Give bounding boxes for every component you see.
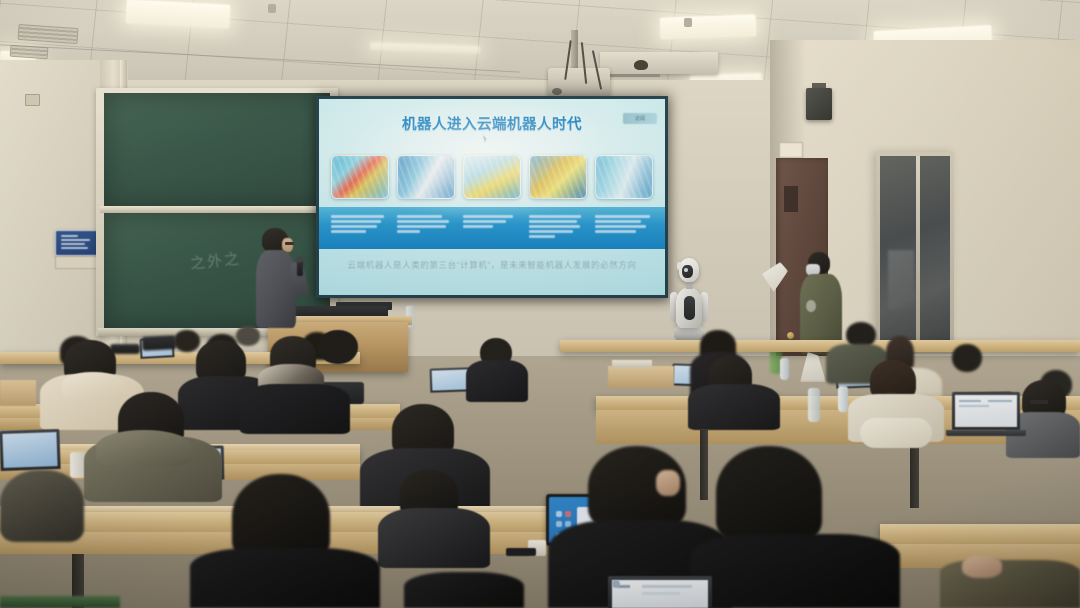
presentation-slide: 机器人进入云端机器人时代 达闼 xyxy=(319,99,665,295)
robot-ear xyxy=(677,262,682,270)
hand xyxy=(962,556,1002,578)
audience-head-foreground xyxy=(716,446,822,542)
slide-caption: 云端机器人是人类的第三台“计算机”，是未来智能机器人发展的必然方向 xyxy=(319,259,665,271)
water-bottle xyxy=(838,386,848,412)
audience-body-foreground xyxy=(404,572,524,608)
app-icon xyxy=(612,580,620,588)
robot-eye-icon xyxy=(684,268,688,272)
slide-image-cards xyxy=(331,155,653,199)
audience-body-foreground xyxy=(690,534,900,608)
seat-back xyxy=(142,335,177,351)
presenter-glasses-icon xyxy=(285,242,294,245)
robot-base xyxy=(674,326,704,340)
slide-caption-column xyxy=(529,211,587,247)
right-wall-notice xyxy=(779,142,803,158)
desk-leg xyxy=(700,430,708,500)
desk-side-shelf xyxy=(0,380,36,406)
door-window xyxy=(784,186,798,212)
window-glare xyxy=(888,250,914,310)
door-knob-icon[interactable] xyxy=(787,332,794,339)
chair-back xyxy=(0,596,120,608)
laptop[interactable] xyxy=(430,367,471,392)
dome-camera-icon xyxy=(634,60,648,70)
robot-face-panel xyxy=(682,265,693,278)
paper-stack xyxy=(612,360,652,368)
sprinkler-head xyxy=(268,4,276,13)
laptop[interactable] xyxy=(608,576,712,608)
microphone-head-icon xyxy=(296,256,303,263)
slide-title: 机器人进入云端机器人时代 xyxy=(319,113,665,134)
wall-speaker xyxy=(806,88,832,120)
audience-body xyxy=(240,384,350,434)
left-wall-sign-secondary xyxy=(55,256,101,269)
audience-body-leather xyxy=(688,384,780,430)
backpack xyxy=(860,418,932,448)
slide-caption-columns xyxy=(331,211,653,247)
sprinkler-head xyxy=(684,18,692,27)
water-bottle xyxy=(808,388,820,422)
audience-head xyxy=(318,330,358,364)
slide-card xyxy=(529,155,587,199)
desk-row-back xyxy=(560,340,1080,352)
audience-head xyxy=(236,326,260,346)
robot-chest-panel xyxy=(684,296,695,320)
audience-body xyxy=(378,508,490,568)
water-bottle xyxy=(780,358,789,380)
wall-outlet xyxy=(25,94,40,106)
laptop[interactable] xyxy=(0,429,61,471)
hoodie-hood xyxy=(96,430,192,466)
presenter-body xyxy=(256,250,296,328)
chalkboard-rail xyxy=(100,206,334,213)
desk-side-shelf xyxy=(608,366,674,388)
slide-caption-column xyxy=(595,211,653,247)
attendant-badge xyxy=(806,300,816,312)
left-wall-sign xyxy=(55,230,101,256)
raised-hand xyxy=(656,470,680,496)
slide-caption-column xyxy=(463,211,521,247)
glasses-icon xyxy=(1030,400,1048,404)
company-logo: 达闼 xyxy=(623,113,657,124)
desk-row-front xyxy=(880,524,1080,544)
ceiling-light-panel xyxy=(660,14,757,39)
window-mullion xyxy=(916,156,920,350)
mouse-cursor-icon xyxy=(483,135,487,142)
slide-card xyxy=(331,155,389,199)
audience-body-foreground xyxy=(0,470,84,542)
slide-card xyxy=(463,155,521,199)
slide-card xyxy=(595,155,653,199)
slide-caption-column xyxy=(331,211,389,247)
laptop[interactable] xyxy=(952,392,1020,430)
ceiling-equipment-mount xyxy=(600,52,718,74)
laptop-base xyxy=(946,430,1026,436)
classroom-photo-scene: 之外之 机器人进入云端机器人时代 达闼 xyxy=(0,0,1080,608)
audience-body xyxy=(466,360,528,402)
phone-device[interactable] xyxy=(506,548,536,556)
audience-head xyxy=(174,330,200,352)
projector-pole xyxy=(571,30,578,70)
audience-body-foreground xyxy=(190,548,380,608)
audience-head xyxy=(952,344,982,372)
chalk-marks: 之外之 xyxy=(189,247,242,273)
seat-back xyxy=(110,344,140,354)
slide-caption-column xyxy=(397,211,455,247)
audience-arm-foreground xyxy=(940,560,1080,608)
hoodie-hood xyxy=(62,372,124,400)
slide-card xyxy=(397,155,455,199)
chalkboard-panel-upper xyxy=(104,93,330,208)
